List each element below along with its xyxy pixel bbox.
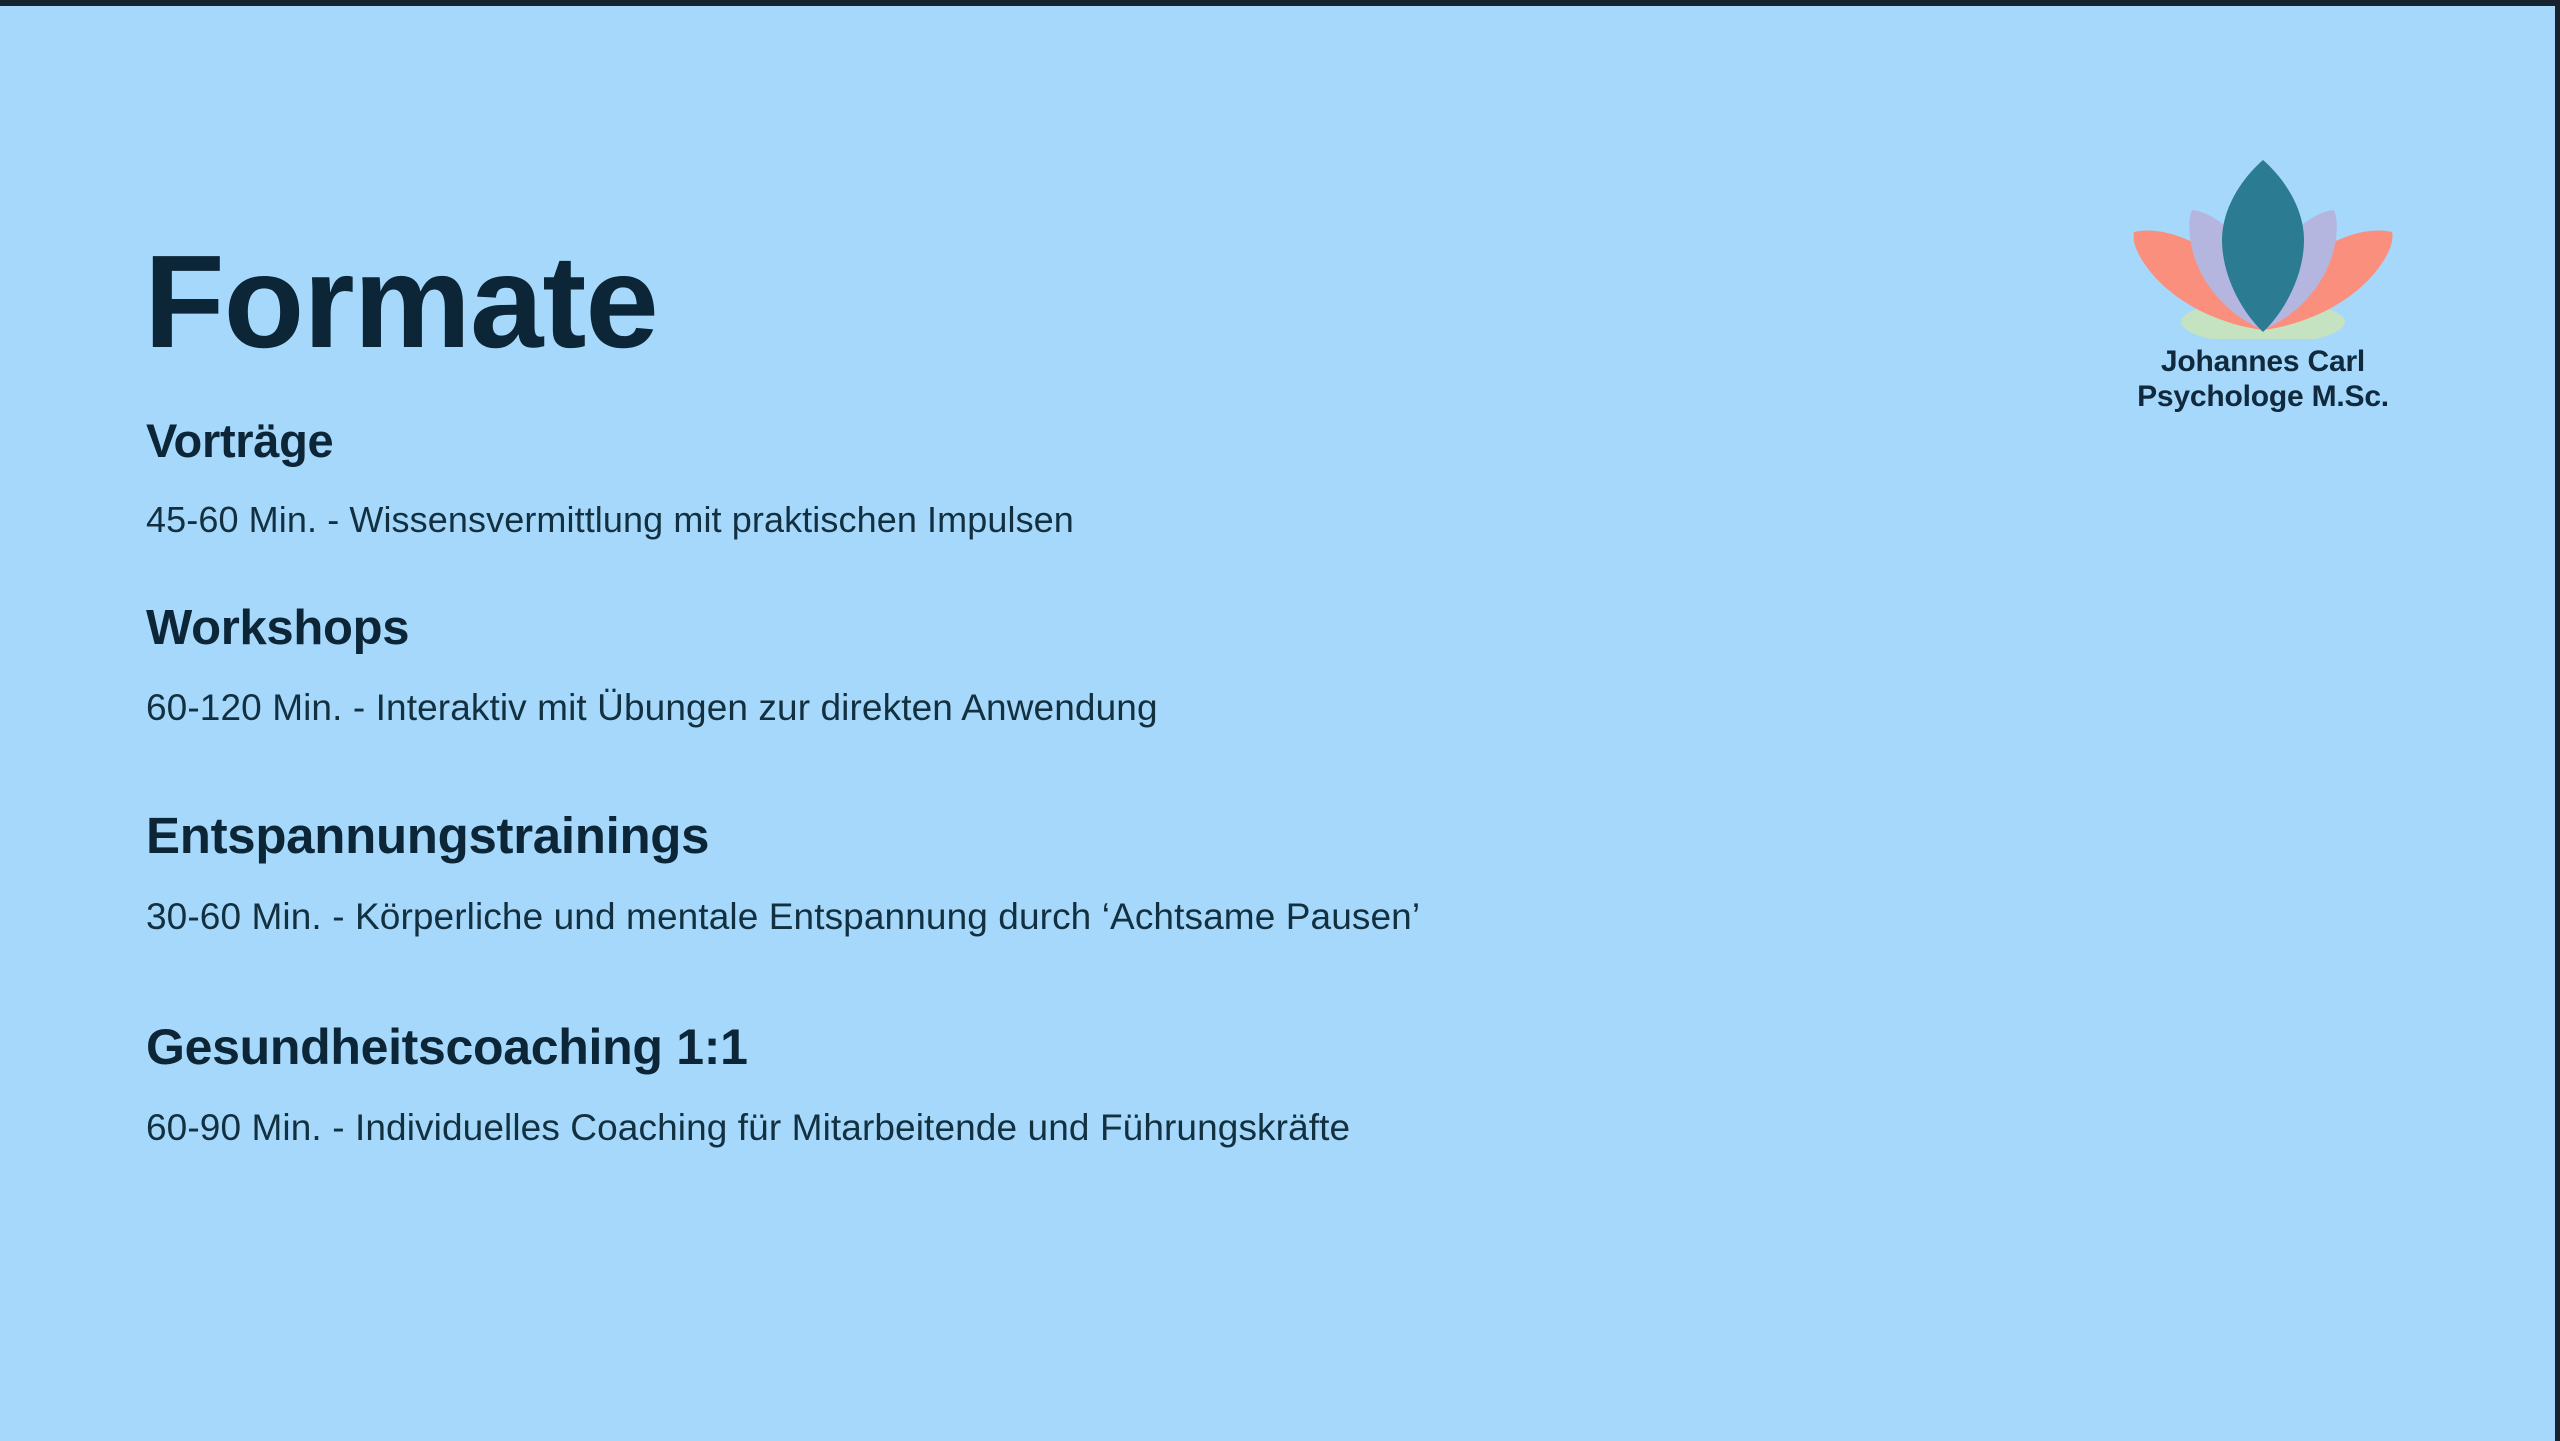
format-description-entspannungstrainings: 30-60 Min. - Körperliche und mentale Ent… xyxy=(146,896,2046,937)
format-description-vortraege: 45-60 Min. - Wissensvermittlung mit prak… xyxy=(146,500,2046,540)
list-item: Vorträge 45-60 Min. - Wissensvermittlung… xyxy=(146,416,2046,540)
format-heading-gesundheitscoaching: Gesundheitscoaching 1:1 xyxy=(146,1020,2046,1074)
list-item: Gesundheitscoaching 1:1 60-90 Min. - Ind… xyxy=(146,1020,2046,1148)
lotus-flower-icon xyxy=(2098,154,2428,339)
slide-canvas: Formate Vorträge 45-60 Min. - Wissensver… xyxy=(0,0,2560,1441)
brand-logo: Johannes Carl Psychologe M.Sc. xyxy=(2098,154,2428,415)
format-description-gesundheitscoaching: 60-90 Min. - Individuelles Coaching für … xyxy=(146,1107,2046,1148)
logo-name: Johannes Carl xyxy=(2098,345,2428,380)
format-heading-entspannungstrainings: Entspannungstrainings xyxy=(146,808,2046,863)
format-heading-vortraege: Vorträge xyxy=(146,416,2046,467)
formats-list: Vorträge 45-60 Min. - Wissensvermittlung… xyxy=(146,416,2046,1148)
list-item: Workshops 60-120 Min. - Interaktiv mit Ü… xyxy=(146,602,2046,728)
logo-credential: Psychologe M.Sc. xyxy=(2098,380,2428,415)
format-heading-workshops: Workshops xyxy=(146,602,2046,655)
page-title: Formate xyxy=(144,236,658,368)
format-description-workshops: 60-120 Min. - Interaktiv mit Übungen zur… xyxy=(146,687,2046,728)
list-item: Entspannungstrainings 30-60 Min. - Körpe… xyxy=(146,808,2046,938)
